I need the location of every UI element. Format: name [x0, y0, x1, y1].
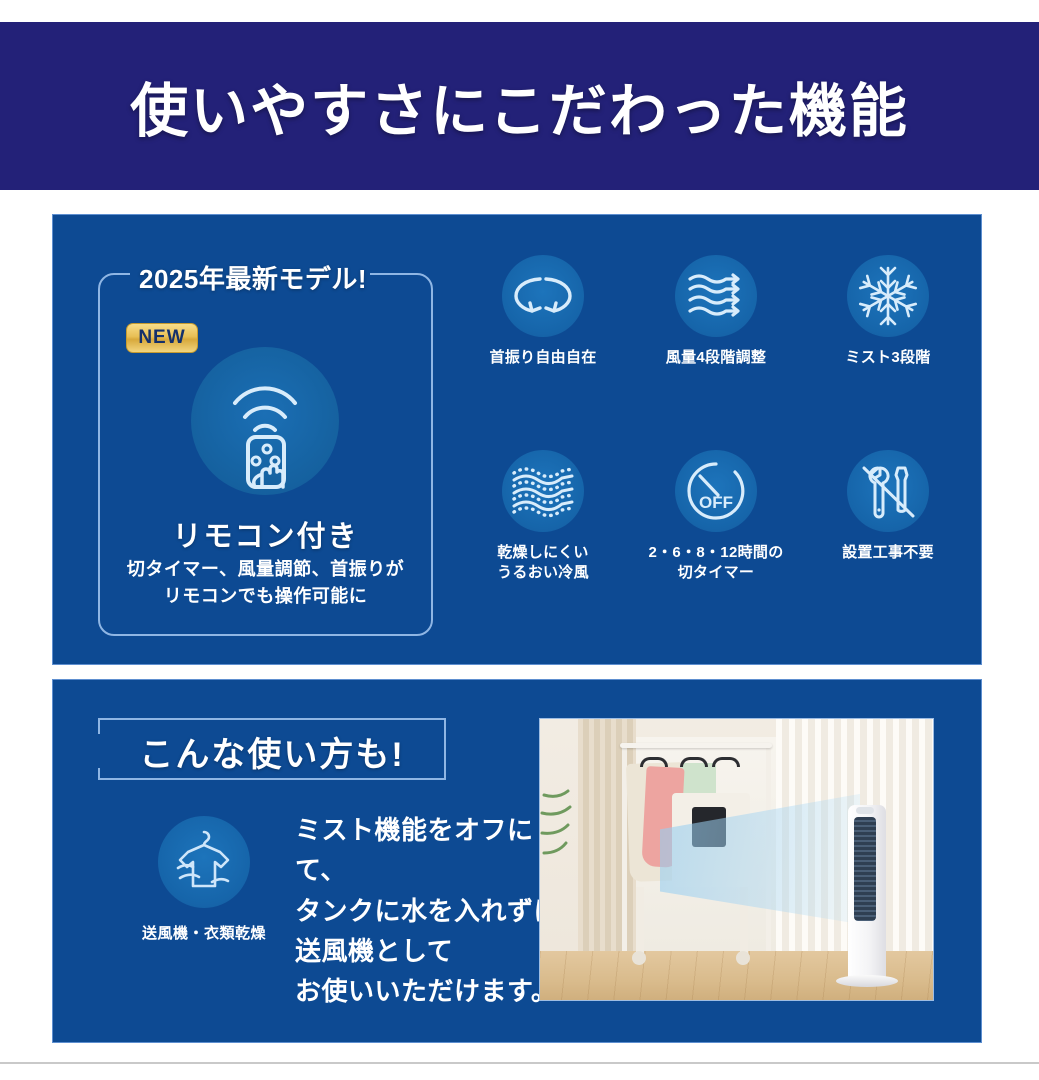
remote-description-line2: リモコンでも操作可能に	[98, 583, 433, 610]
feature-item-timer: OFF 2・6・8・12時間の 切タイマー	[636, 450, 796, 584]
feature-label: 2・6・8・12時間の 切タイマー	[636, 543, 796, 584]
tshirt-hanger-drying-icon	[158, 816, 250, 908]
feature-label-line2: 切タイマー	[636, 563, 796, 583]
page-title: 使いやすさにこだわった機能	[130, 64, 909, 148]
header-band: 使いやすさにこだわった機能	[0, 22, 1039, 190]
feature-grid: 首振り自由自在	[463, 255, 968, 635]
laundry-room-tower-fan-photo	[539, 718, 934, 1001]
usage-body-text: ミスト機能をオフにして、 タンクに水を入れずに 送風機として お使いいただけます…	[295, 810, 575, 1011]
feature-label-line1: 乾燥しにくい	[463, 543, 623, 563]
features-card: 2025年最新モデル! NEW リモコン付き	[52, 214, 982, 665]
remote-panel: 2025年最新モデル! NEW リモコン付き	[98, 251, 433, 636]
timer-off-dial-icon: OFF	[675, 450, 757, 532]
model-year-label: 2025年最新モデル!	[138, 259, 368, 296]
usage-icon-label: 送風機・衣類乾燥	[113, 922, 295, 943]
airflow-wavy-arrows-icon	[675, 255, 757, 337]
remote-title: リモコン付き	[98, 513, 433, 555]
usage-heading: こんな使い方も!	[98, 727, 446, 776]
feature-label: 首振り自由自在	[463, 348, 623, 368]
feature-label-line2: うるおい冷風	[463, 563, 623, 583]
feature-label-line1: 2・6・8・12時間の	[636, 543, 796, 563]
no-installation-tools-icon	[847, 450, 929, 532]
usage-body-line1: ミスト機能をオフにして、	[295, 810, 575, 891]
usage-body-line3: 送風機として	[295, 931, 575, 971]
moist-air-waves-icon	[502, 450, 584, 532]
feature-label: ミスト3段階	[808, 348, 968, 368]
svg-text:OFF: OFF	[699, 493, 733, 512]
feature-label: 設置工事不要	[808, 543, 968, 563]
feature-item-no-installation: 設置工事不要	[808, 450, 968, 563]
usage-card: こんな使い方も! 送風機・衣類乾燥 ミスト機能をオフにして、 タンクに水を入れず…	[52, 679, 982, 1043]
bottom-divider	[0, 1062, 1039, 1064]
feature-item-oscillation: 首振り自由自在	[463, 255, 623, 368]
remote-control-signal-icon	[191, 347, 339, 495]
feature-label: 乾燥しにくい うるおい冷風	[463, 543, 623, 584]
new-badge: NEW	[126, 323, 198, 353]
oscillation-arrows-icon	[502, 255, 584, 337]
infographic-page: 使いやすさにこだわった機能 2025年最新モデル! NEW	[0, 0, 1039, 1080]
feature-item-moist-air: 乾燥しにくい うるおい冷風	[463, 450, 623, 584]
feature-label: 風量4段階調整	[636, 348, 796, 368]
remote-description: 切タイマー、風量調節、首振りが リモコンでも操作可能に	[98, 556, 433, 610]
usage-body-line2: タンクに水を入れずに	[295, 891, 575, 931]
feature-item-mist: ミスト3段階	[808, 255, 968, 368]
remote-description-line1: 切タイマー、風量調節、首振りが	[98, 556, 433, 583]
snowflake-icon	[847, 255, 929, 337]
usage-body-line4: お使いいただけます。	[295, 971, 575, 1011]
plant-decor	[540, 761, 574, 881]
feature-item-airflow: 風量4段階調整	[636, 255, 796, 368]
